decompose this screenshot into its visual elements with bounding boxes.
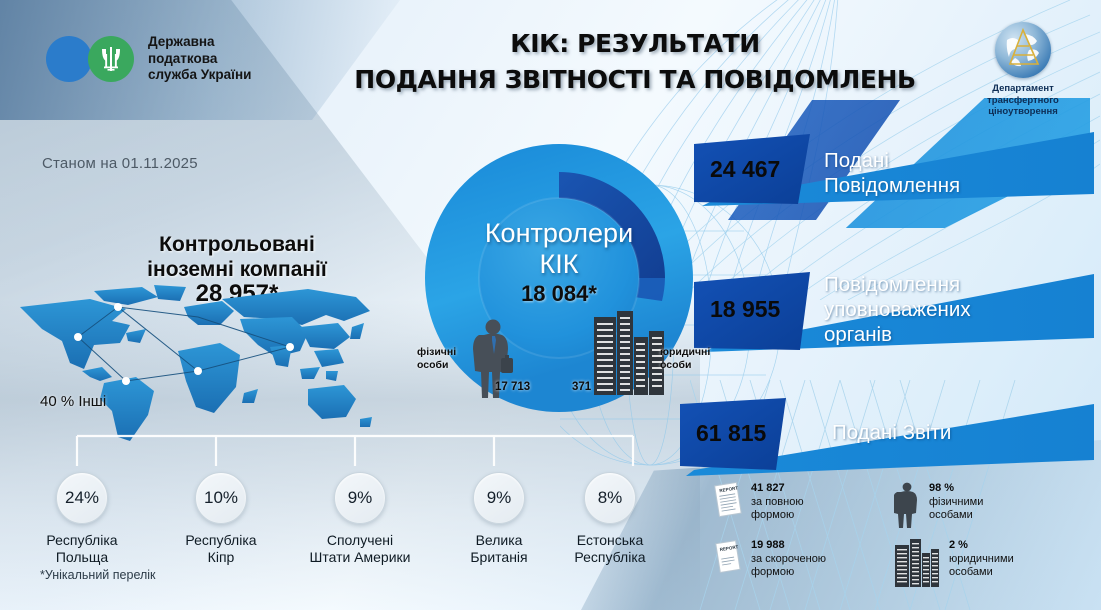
person-icon (894, 482, 920, 528)
document-short-icon: REPORT (714, 539, 742, 575)
report-breakdown-stats: REPORT 41 827 за повною формою (714, 482, 1094, 610)
banner-submitted-notifications[interactable]: 24 467 Подані Повідомлення (694, 132, 1094, 210)
donut-legend-legal-entities: юридичні особи (660, 346, 710, 371)
banner-number: 61 815 (696, 420, 766, 447)
stat-value: 98 % (929, 482, 983, 496)
page-title: КІК: РЕЗУЛЬТАТИ ПОДАННЯ ЗВІТНОСТІ ТА ПОВ… (330, 26, 940, 98)
tax-service-logo: Державна податкова служба України (46, 34, 251, 84)
country-bracket (75, 432, 635, 470)
stat-short-form: REPORT 19 988 за скороченою формою (714, 539, 826, 580)
country-item[interactable]: 10% Республіка Кіпр (159, 472, 283, 566)
country-percent-row: 24% Республіка Польща 10% Республіка Кіп… (20, 472, 680, 592)
stat-value: 2 % (949, 539, 1014, 553)
stat-description: фізичними особами (929, 496, 983, 523)
stat-description: юридичними особами (949, 553, 1014, 580)
country-item[interactable]: 9% Сполучені Штати Америки (298, 472, 422, 566)
stat-description: за повною формою (751, 496, 804, 523)
banner-label: Повідомлення уповноважених органів (824, 272, 971, 347)
stat-value: 19 988 (751, 539, 826, 553)
cfc-title: Контрольовані іноземні компанії (82, 232, 392, 282)
stat-legal-entities-share: 2 % юридичними особами (894, 539, 1014, 587)
banner-submitted-reports[interactable]: 61 815 Подані Звіти (680, 398, 1094, 476)
country-percent-badge: 9% (473, 472, 525, 524)
trident-icon (100, 45, 122, 73)
country-name: Республіка Кіпр (159, 532, 283, 566)
logo-green-circle-icon (88, 36, 134, 82)
stat-full-form: REPORT 41 827 за повною формою (714, 482, 804, 523)
document-full-icon: REPORT (714, 482, 742, 518)
banner-label: Подані Звіти (832, 420, 951, 445)
as-of-date: Станом на 01.11.2025 (42, 155, 198, 172)
banner-authority-notifications[interactable]: 18 955 Повідомлення уповноважених органі… (694, 260, 1094, 356)
infographic-poster: Державна податкова служба України КІК: Р… (0, 0, 1101, 610)
banner-label: Подані Повідомлення (824, 148, 960, 198)
stat-individuals-share: 98 % фізичними особами (894, 482, 983, 528)
country-item[interactable]: 24% Республіка Польща (20, 472, 144, 566)
buildings-icon (894, 539, 940, 587)
others-percent-label: 40 % Інші (40, 393, 106, 410)
stat-value: 41 827 (751, 482, 804, 496)
donut-value-individuals: 17 713 (495, 381, 530, 393)
donut-center-number: 18 084* (444, 281, 674, 307)
country-percent-badge: 10% (195, 472, 247, 524)
department-logo-text: Департамент трансфертного ціноутворення (963, 83, 1083, 118)
country-percent-badge: 24% (56, 472, 108, 524)
country-name: Республіка Польща (20, 532, 144, 566)
country-percent-badge: 8% (584, 472, 636, 524)
globe-icon (995, 22, 1051, 78)
country-name: Велика Британія (437, 532, 561, 566)
logo-blue-circle-icon (46, 36, 92, 82)
banner-number: 24 467 (710, 156, 780, 183)
country-item[interactable]: 9% Велика Британія (437, 472, 561, 566)
donut-value-legal-entities: 371 (572, 381, 591, 393)
tax-service-logo-text: Державна податкова служба України (148, 34, 251, 84)
stat-description: за скороченою формою (751, 553, 826, 580)
country-item[interactable]: 8% Естонська Республіка (548, 472, 672, 566)
donut-legend-individuals: фізичні особи (417, 346, 456, 371)
banner-number: 18 955 (710, 296, 780, 323)
donut-center-label: Контролери КІК (444, 218, 674, 280)
department-logo: Департамент трансфертного ціноутворення (963, 22, 1083, 118)
country-name: Сполучені Штати Америки (298, 532, 422, 566)
country-name: Естонська Республіка (548, 532, 672, 566)
country-percent-badge: 9% (334, 472, 386, 524)
buildings-icon (592, 311, 666, 395)
